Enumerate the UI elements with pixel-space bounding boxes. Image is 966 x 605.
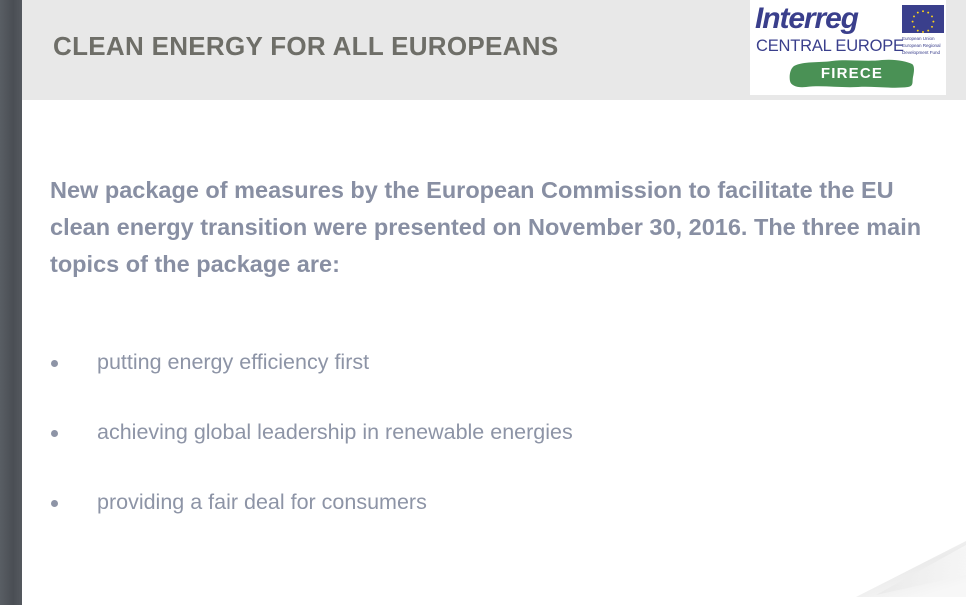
body-paragraph: New package of measures by the European … bbox=[50, 172, 935, 283]
firece-badge: FIRECE bbox=[788, 58, 916, 89]
bullet-dot-icon bbox=[51, 500, 58, 507]
slide-canvas: CLEAN ENERGY FOR ALL EUROPEANS Interreg … bbox=[0, 0, 966, 605]
list-item: putting energy efficiency first bbox=[50, 348, 910, 418]
page-title: CLEAN ENERGY FOR ALL EUROPEANS bbox=[53, 31, 558, 62]
topics-bullet-list: putting energy efficiency first achievin… bbox=[50, 348, 910, 558]
left-edge-bar-gradient bbox=[0, 0, 22, 605]
interreg-firece-logo: Interreg CENTRAL EUROPE bbox=[750, 0, 946, 95]
eu-flag-icon bbox=[902, 5, 944, 33]
interreg-wordmark: Interreg bbox=[755, 4, 858, 34]
eu-fund-line-1: European Union bbox=[902, 35, 948, 42]
list-item-label: putting energy efficiency first bbox=[97, 348, 369, 376]
list-item: providing a fair deal for consumers bbox=[50, 488, 910, 558]
list-item-label: providing a fair deal for consumers bbox=[97, 488, 427, 516]
eu-fund-line-3: Development Fund bbox=[902, 49, 948, 56]
bullet-dot-icon bbox=[51, 430, 58, 437]
firece-label: FIRECE bbox=[788, 58, 916, 89]
interreg-programme-label: CENTRAL EUROPE bbox=[756, 38, 904, 55]
list-item-label: achieving global leadership in renewable… bbox=[97, 418, 573, 446]
eu-fund-caption: European Union European Regional Develop… bbox=[902, 35, 948, 56]
bullet-dot-icon bbox=[51, 360, 58, 367]
left-edge-bar bbox=[0, 0, 22, 605]
list-item: achieving global leadership in renewable… bbox=[50, 418, 910, 488]
eu-fund-line-2: European Regional bbox=[902, 42, 948, 49]
